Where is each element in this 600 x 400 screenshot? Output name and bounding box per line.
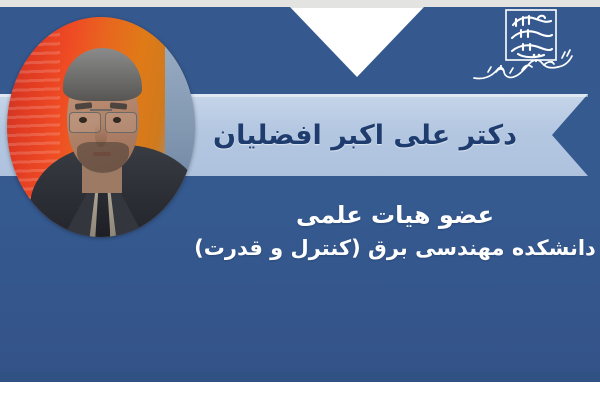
shahid-beheshti-university-logo xyxy=(466,6,578,90)
person-position: عضو هیات علمی xyxy=(190,198,600,232)
portrait-eye-left xyxy=(79,117,87,123)
portrait-eye-right xyxy=(113,117,121,123)
glasses-bridge xyxy=(90,109,113,110)
panel-bottom-edge xyxy=(0,372,600,382)
portrait-eyebrow-right xyxy=(110,102,127,109)
person-department: دانشکده مهندسی برق (کنترل و قدرت) xyxy=(190,232,600,264)
glasses-lens-right xyxy=(105,112,137,134)
profile-banner: دکتر علی اکبر افضلیان عضو هیات علمی دانش… xyxy=(0,0,600,400)
person-affiliation-block: عضو هیات علمی دانشکده مهندسی برق (کنترل … xyxy=(190,198,600,264)
avatar: تصویر پرتره دکتر علی اکبر افضلیان xyxy=(7,17,195,237)
person-name: دکتر علی اکبر افضلیان xyxy=(200,110,530,160)
portrait-mouth xyxy=(93,152,112,156)
